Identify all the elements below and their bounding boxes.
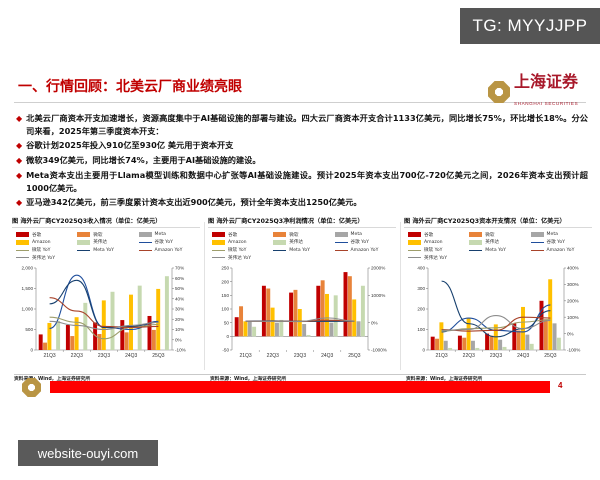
legend-item: 英伟达 YoY (212, 254, 273, 261)
bullet-text: 亚马逊342亿美元，前三季度累计资本支出近900亿美元，预计全年资本支出1250… (26, 196, 361, 209)
legend-label: Amazon (424, 240, 443, 245)
chart-title-divider (12, 227, 200, 228)
legend-label: 谷歌 (228, 232, 237, 238)
legend-item: 微软 YoY (408, 247, 469, 254)
legend-line (469, 250, 482, 251)
legend-swatch (16, 240, 29, 245)
svg-text:22Q3: 22Q3 (463, 353, 475, 359)
chart-bar (248, 321, 252, 336)
legend-item: 谷歌 YoY (139, 239, 200, 246)
chart-bar (252, 327, 256, 337)
svg-text:100%: 100% (567, 315, 579, 320)
svg-text:300: 300 (417, 286, 425, 291)
legend-swatch (77, 240, 90, 245)
page-number: 4 (558, 381, 562, 390)
panel-divider (204, 222, 205, 370)
chart-bar (56, 321, 60, 350)
legend-line (16, 257, 29, 258)
legend-label: Meta YoY (289, 248, 310, 253)
brand-name-cn: 上海证券 (514, 72, 578, 91)
chart-title: 图 海外云厂商CY2025Q3资本开支情况（单位：亿美元） (404, 216, 594, 225)
legend-label: Meta YoY (485, 248, 506, 253)
chart-plot: 0100200300400-100%0%100%200%300%400%21Q3… (402, 262, 594, 374)
chart-bar (462, 338, 466, 350)
svg-text:100: 100 (417, 327, 425, 332)
svg-text:200%: 200% (567, 299, 579, 304)
legend-item: 微软 (273, 231, 334, 238)
legend-swatch (469, 232, 482, 237)
chart-bar (444, 341, 448, 350)
chart-bar (298, 309, 302, 336)
legend-item: Meta (139, 231, 200, 238)
diamond-bullet-icon: ◆ (16, 169, 22, 182)
bullet-text: 微软349亿美元，同比增长74%，主要用于AI基础设施的建设。 (26, 154, 260, 167)
legend-label: 谷歌 YoY (547, 239, 565, 245)
chart-bar (307, 335, 311, 336)
legend-line (335, 242, 348, 243)
telegram-watermark: TG: MYYJJPP (460, 8, 600, 44)
legend-item: 英伟达 (469, 239, 530, 246)
site-watermark: website-ouyi.com (18, 440, 158, 466)
legend-item: 谷歌 (408, 231, 469, 238)
svg-text:500: 500 (25, 327, 33, 332)
svg-text:21Q3: 21Q3 (435, 353, 447, 359)
legend-item: Meta (335, 231, 396, 238)
legend-line (139, 250, 152, 251)
legend-label: Amazon YoY (155, 248, 183, 253)
brand-logo: 上海证券 SHANGHAI SECURITIES (488, 74, 578, 110)
legend-line (531, 242, 544, 243)
legend-item: 微软 (77, 231, 138, 238)
legend-item: 英伟达 (77, 239, 138, 246)
legend-item: Meta (531, 231, 592, 238)
chart-bar (525, 335, 529, 350)
legend-swatch (408, 240, 421, 245)
svg-text:23Q3: 23Q3 (294, 353, 306, 359)
chart-bar (517, 331, 521, 350)
chart-bar (352, 299, 356, 336)
legend-swatch (139, 232, 152, 237)
legend-label: Amazon YoY (351, 248, 379, 253)
svg-text:-100%: -100% (567, 348, 580, 353)
footer-logo-icon (22, 378, 41, 397)
chart-bar (439, 322, 443, 350)
svg-text:30%: 30% (175, 307, 184, 312)
chart-bar (97, 334, 101, 350)
svg-text:22Q3: 22Q3 (71, 353, 83, 359)
svg-text:-1000%: -1000% (371, 348, 387, 353)
chart-svg: 0100200300400-100%0%100%200%300%400%21Q3… (402, 262, 594, 374)
legend-line (408, 250, 421, 251)
bullet-item: ◆ 亚马逊342亿美元，前三季度累计资本支出近900亿美元，预计全年资本支出12… (16, 196, 588, 209)
chart-bar (235, 317, 239, 336)
legend-item: 谷歌 (16, 231, 77, 238)
legend-item: Amazon YoY (531, 247, 592, 254)
chart-bar (544, 319, 548, 350)
chart-bar (448, 348, 452, 350)
legend-label: 谷歌 (424, 232, 433, 238)
svg-text:400%: 400% (567, 266, 579, 271)
legend-label: 谷歌 (32, 232, 41, 238)
legend-item: 微软 YoY (16, 247, 77, 254)
legend-label: Meta (351, 232, 362, 237)
svg-text:300%: 300% (567, 282, 579, 287)
legend-item: Meta YoY (273, 247, 334, 254)
svg-text:0%: 0% (175, 337, 182, 342)
chart-svg: -50050100150200250-1000%0%1000%2000%21Q3… (206, 262, 398, 374)
svg-text:200: 200 (221, 279, 229, 284)
chart-panel-revenue: 图 海外云厂商CY2025Q3收入情况（单位：亿美元） 谷歌微软MetaAmaz… (10, 216, 202, 376)
chart-bar (156, 289, 160, 350)
legend-item: 英伟达 YoY (408, 254, 469, 261)
svg-text:50: 50 (224, 320, 230, 325)
chart-panel-net-profit: 图 海外云厂商CY2025Q3净利润情况（单位：亿美元） 谷歌微软MetaAma… (206, 216, 398, 376)
chart-bar (111, 292, 115, 350)
legend-swatch (469, 240, 482, 245)
diamond-bullet-icon: ◆ (16, 139, 22, 152)
chart-bar (102, 300, 106, 350)
chart-bar (152, 330, 156, 350)
chart-bar (316, 286, 320, 337)
legend-label: 英伟达 YoY (228, 255, 251, 261)
svg-text:-10%: -10% (175, 348, 186, 353)
legend-label: 英伟达 (485, 239, 499, 245)
svg-text:0%: 0% (567, 331, 574, 336)
chart-bar (275, 323, 279, 337)
legend-swatch (16, 232, 29, 237)
svg-text:24Q3: 24Q3 (321, 353, 333, 359)
legend-item: 微软 (469, 231, 530, 238)
chart-bar (39, 334, 43, 350)
chart-plot: 05001,0001,5002,000-10%0%10%20%30%40%50%… (10, 262, 202, 374)
svg-text:0: 0 (30, 348, 33, 353)
footer-red-bar (50, 381, 550, 393)
chart-bar (293, 290, 297, 336)
chart-bar (471, 341, 475, 350)
legend-label: Amazon (32, 240, 51, 245)
svg-text:100: 100 (221, 307, 229, 312)
legend-label: 微软 YoY (32, 247, 50, 253)
footer-divider (14, 374, 586, 375)
svg-text:24Q3: 24Q3 (125, 353, 137, 359)
legend-swatch (212, 232, 225, 237)
svg-text:1000%: 1000% (371, 293, 385, 298)
chart-bar (458, 336, 462, 350)
chart-bar (120, 320, 124, 350)
legend-label: Meta (547, 232, 558, 237)
svg-text:25Q3: 25Q3 (152, 353, 164, 359)
chart-bar (129, 295, 133, 350)
legend-line (408, 257, 421, 258)
legend-item: Amazon (212, 239, 273, 246)
chart-bar (289, 293, 293, 337)
svg-text:20%: 20% (175, 317, 184, 322)
legend-label: 微软 (485, 232, 494, 238)
svg-text:21Q3: 21Q3 (239, 353, 251, 359)
legend-item: Amazon (408, 239, 469, 246)
legend-label: Amazon (228, 240, 247, 245)
svg-text:23Q3: 23Q3 (490, 353, 502, 359)
svg-text:200: 200 (417, 307, 425, 312)
svg-text:50%: 50% (175, 286, 184, 291)
legend-item: 微软 YoY (212, 247, 273, 254)
legend-label: 谷歌 YoY (155, 239, 173, 245)
legend-label: 英伟达 (93, 239, 107, 245)
chart-panel-capex: 图 海外云厂商CY2025Q3资本开支情况（单位：亿美元） 谷歌微软MetaAm… (402, 216, 594, 376)
legend-label: 微软 YoY (228, 247, 246, 253)
legend-item: 英伟达 YoY (16, 254, 77, 261)
bullet-text: 北美云厂商资本开支加速增长，资源高度集中于AI基础设施的部署与建设。四大云厂商资… (26, 112, 588, 137)
chart-bar (321, 280, 325, 336)
svg-text:60%: 60% (175, 276, 184, 281)
svg-text:1,500: 1,500 (22, 286, 34, 291)
chart-bar (553, 323, 557, 350)
svg-text:70%: 70% (175, 266, 184, 271)
legend-swatch (408, 232, 421, 237)
legend-item: 谷歌 YoY (531, 239, 592, 246)
diamond-bullet-icon: ◆ (16, 112, 22, 125)
legend-item: Amazon YoY (139, 247, 200, 254)
chart-bar (266, 289, 270, 337)
legend-label: Amazon YoY (547, 248, 575, 253)
legend-line (212, 257, 225, 258)
chart-legend: 谷歌微软MetaAmazon英伟达谷歌 YoY微软 YoYMeta YoYAma… (10, 230, 202, 262)
chart-title-divider (404, 227, 592, 228)
svg-text:0: 0 (422, 348, 425, 353)
legend-swatch (212, 240, 225, 245)
chart-bar (271, 308, 275, 337)
chart-bar (47, 323, 51, 350)
svg-text:21Q3: 21Q3 (43, 353, 55, 359)
slide-header: 一、行情回顾：北美云厂商业绩亮眼 上海证券 SHANGHAI SECURITIE… (0, 74, 600, 108)
chart-bar (489, 336, 493, 350)
chart-bar (431, 337, 435, 350)
legend-item: 谷歌 (212, 231, 273, 238)
svg-text:0: 0 (226, 334, 229, 339)
legend-swatch (273, 240, 286, 245)
chart-bar (70, 336, 74, 350)
svg-text:0%: 0% (371, 320, 378, 325)
chart-bar (329, 323, 333, 337)
legend-label: 英伟达 (289, 239, 303, 245)
legend-item: 英伟达 (273, 239, 334, 246)
legend-line (77, 250, 90, 251)
legend-swatch (335, 232, 348, 237)
chart-bar (325, 294, 329, 336)
bullet-item: ◆ Meta资本支出主要用于Llama模型训练和数据中心扩张等AI基础设施建设。… (16, 169, 588, 194)
chart-bar (165, 276, 169, 350)
chart-title-divider (208, 227, 396, 228)
chart-bar (530, 344, 534, 350)
chart-svg: 05001,0001,5002,000-10%0%10%20%30%40%50%… (10, 262, 202, 374)
legend-line (139, 242, 152, 243)
chart-bar (302, 324, 306, 336)
legend-label: 微软 (93, 232, 102, 238)
chart-bar (503, 347, 507, 350)
svg-text:40%: 40% (175, 296, 184, 301)
chart-title: 图 海外云厂商CY2025Q3净利润情况（单位：亿美元） (208, 216, 398, 225)
diamond-bullet-icon: ◆ (16, 154, 22, 167)
svg-text:23Q3: 23Q3 (98, 353, 110, 359)
legend-line (531, 250, 544, 251)
svg-text:2,000: 2,000 (22, 266, 34, 271)
chart-bar (548, 279, 552, 350)
bullet-list: ◆ 北美云厂商资本开支加速增长，资源高度集中于AI基础设施的部署与建设。四大云厂… (16, 112, 588, 211)
chart-bar (498, 340, 502, 350)
legend-line (273, 250, 286, 251)
chart-bar (435, 339, 439, 350)
legend-line (335, 250, 348, 251)
bullet-text: Meta资本支出主要用于Llama模型训练和数据中心扩张等AI基础设施建设。预计… (26, 169, 588, 194)
chart-bar (485, 334, 489, 350)
chart-panels: 图 海外云厂商CY2025Q3收入情况（单位：亿美元） 谷歌微软MetaAmaz… (10, 216, 594, 376)
bullet-text: 谷歌计划2025年投入910亿至930亿 美元用于资本开支 (26, 139, 233, 152)
svg-text:150: 150 (221, 293, 229, 298)
panel-divider (400, 222, 401, 370)
svg-text:25Q3: 25Q3 (348, 353, 360, 359)
chart-bar (361, 286, 365, 337)
legend-item: Meta YoY (469, 247, 530, 254)
svg-text:25Q3: 25Q3 (544, 353, 556, 359)
chart-title: 图 海外云厂商CY2025Q3收入情况（单位：亿美元） (12, 216, 202, 225)
diamond-bullet-icon: ◆ (16, 196, 22, 209)
chart-bar (475, 348, 479, 350)
chart-bar (557, 338, 561, 350)
legend-swatch (77, 232, 90, 237)
legend-label: Meta (155, 232, 166, 237)
chart-bar (43, 343, 47, 350)
svg-text:24Q3: 24Q3 (517, 353, 529, 359)
chart-bar (138, 286, 142, 350)
slide: TG: MYYJJPP 一、行情回顾：北美云厂商业绩亮眼 上海证券 SHANGH… (0, 0, 600, 420)
legend-label: 微软 YoY (424, 247, 442, 253)
legend-item: 谷歌 YoY (335, 239, 396, 246)
svg-text:1,000: 1,000 (22, 307, 34, 312)
chart-bar (344, 272, 348, 336)
legend-swatch (273, 232, 286, 237)
svg-text:400: 400 (417, 266, 425, 271)
octagon-logo-icon (488, 81, 510, 103)
chart-legend: 谷歌微软MetaAmazon英伟达谷歌 YoY微软 YoYMeta YoYAma… (206, 230, 398, 262)
chart-bar (148, 316, 152, 350)
chart-bar (243, 321, 247, 336)
bullet-item: ◆ 微软349亿美元，同比增长74%，主要用于AI基础设施的建设。 (16, 154, 588, 167)
chart-bar (279, 320, 283, 336)
svg-text:22Q3: 22Q3 (267, 353, 279, 359)
chart-plot: -50050100150200250-1000%0%1000%2000%21Q3… (206, 262, 398, 374)
page-title: 一、行情回顾：北美云厂商业绩亮眼 (18, 76, 242, 96)
bullet-item: ◆ 谷歌计划2025年投入910亿至930亿 美元用于资本开支 (16, 139, 588, 152)
legend-label: 微软 (289, 232, 298, 238)
legend-item: Amazon YoY (335, 247, 396, 254)
brand-name-en: SHANGHAI SECURITIES (514, 101, 578, 106)
chart-bar (262, 286, 266, 337)
chart-bar (66, 325, 70, 350)
legend-label: 谷歌 YoY (351, 239, 369, 245)
legend-line (212, 250, 225, 251)
legend-line (16, 250, 29, 251)
chart-bar (334, 295, 338, 336)
legend-item: Meta YoY (77, 247, 138, 254)
svg-text:10%: 10% (175, 327, 184, 332)
chart-bar (348, 276, 352, 336)
legend-label: Meta YoY (93, 248, 114, 253)
svg-text:250: 250 (221, 266, 229, 271)
chart-bar (357, 321, 361, 336)
legend-label: 英伟达 YoY (32, 255, 55, 261)
legend-label: 英伟达 YoY (424, 255, 447, 261)
svg-text:-50: -50 (222, 348, 229, 353)
legend-item: Amazon (16, 239, 77, 246)
chart-bar (239, 306, 243, 336)
bullet-item: ◆ 北美云厂商资本开支加速增长，资源高度集中于AI基础设施的部署与建设。四大云厂… (16, 112, 588, 137)
legend-swatch (531, 232, 544, 237)
svg-text:2000%: 2000% (371, 266, 385, 271)
chart-legend: 谷歌微软MetaAmazon英伟达谷歌 YoY微软 YoYMeta YoYAma… (402, 230, 594, 262)
chart-bar (125, 332, 129, 350)
